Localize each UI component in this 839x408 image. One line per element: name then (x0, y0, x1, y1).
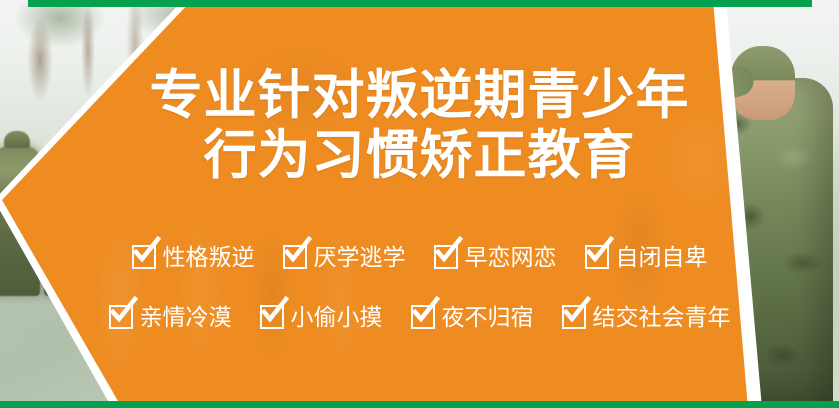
checklist-item: 自闭自卑 (585, 245, 708, 269)
headline-line-1: 专业针对叛逆期青少年 (0, 66, 839, 126)
headline: 专业针对叛逆期青少年 行为习惯矫正教育 (0, 66, 839, 186)
checklist-item-label: 结交社会青年 (593, 306, 731, 329)
checklist-item-label: 厌学逃学 (314, 246, 406, 269)
checklist-row: 亲情冷漠 小偷小摸 夜不归宿 (0, 298, 839, 336)
checklist-item-label: 亲情冷漠 (140, 306, 232, 329)
promo-banner: 专业针对叛逆期青少年 行为习惯矫正教育 性格叛逆 (0, 0, 839, 408)
checklist-item: 结交社会青年 (562, 305, 731, 329)
checklist-item: 亲情冷漠 (109, 305, 232, 329)
checklist-item: 厌学逃学 (283, 245, 406, 269)
checklist-item-label: 小偷小摸 (291, 306, 383, 329)
checklist-item: 夜不归宿 (411, 305, 534, 329)
checklist-item-label: 夜不归宿 (442, 306, 534, 329)
headline-line-2: 行为习惯矫正教育 (0, 126, 839, 186)
checkbox-checked-icon (109, 305, 133, 329)
checkbox-checked-icon (585, 245, 609, 269)
checklist-item: 性格叛逆 (132, 245, 255, 269)
checkbox-checked-icon (434, 245, 458, 269)
checklist-item-label: 早恋网恋 (465, 246, 557, 269)
checkbox-checked-icon (283, 245, 307, 269)
checkbox-checked-icon (132, 245, 156, 269)
checklist-item-label: 性格叛逆 (163, 246, 255, 269)
checklist-item-label: 自闭自卑 (616, 246, 708, 269)
banner-content: 专业针对叛逆期青少年 行为习惯矫正教育 性格叛逆 (0, 0, 839, 408)
checkbox-checked-icon (562, 305, 586, 329)
checkbox-checked-icon (411, 305, 435, 329)
checklist: 性格叛逆 厌学逃学 早恋网恋 (0, 238, 839, 358)
checkbox-checked-icon (260, 305, 284, 329)
checklist-row: 性格叛逆 厌学逃学 早恋网恋 (0, 238, 839, 276)
checklist-item: 小偷小摸 (260, 305, 383, 329)
checklist-item: 早恋网恋 (434, 245, 557, 269)
